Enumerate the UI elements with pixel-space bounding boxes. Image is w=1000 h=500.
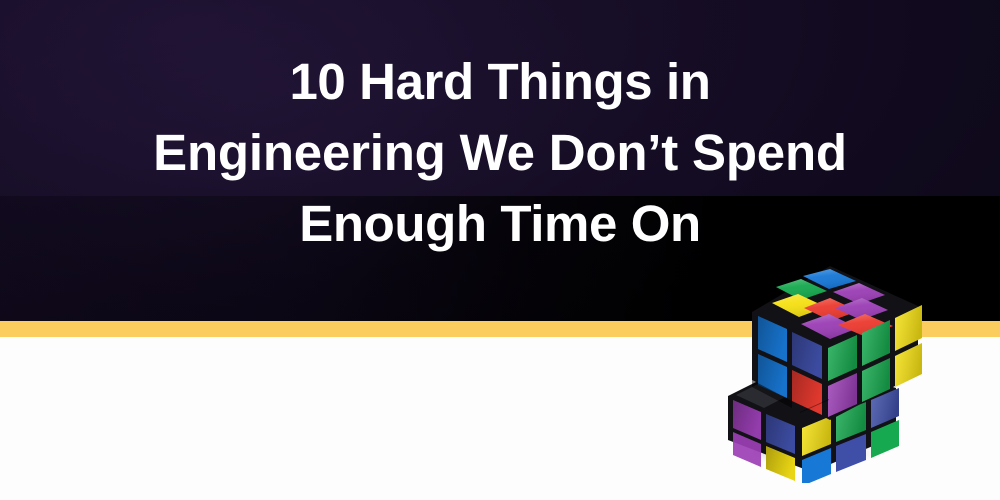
- rubiks-cube-icon: [700, 248, 950, 483]
- rubiks-cube-image: [700, 248, 950, 483]
- article-header-banner: 10 Hard Things in Engineering We Don’t S…: [0, 0, 1000, 500]
